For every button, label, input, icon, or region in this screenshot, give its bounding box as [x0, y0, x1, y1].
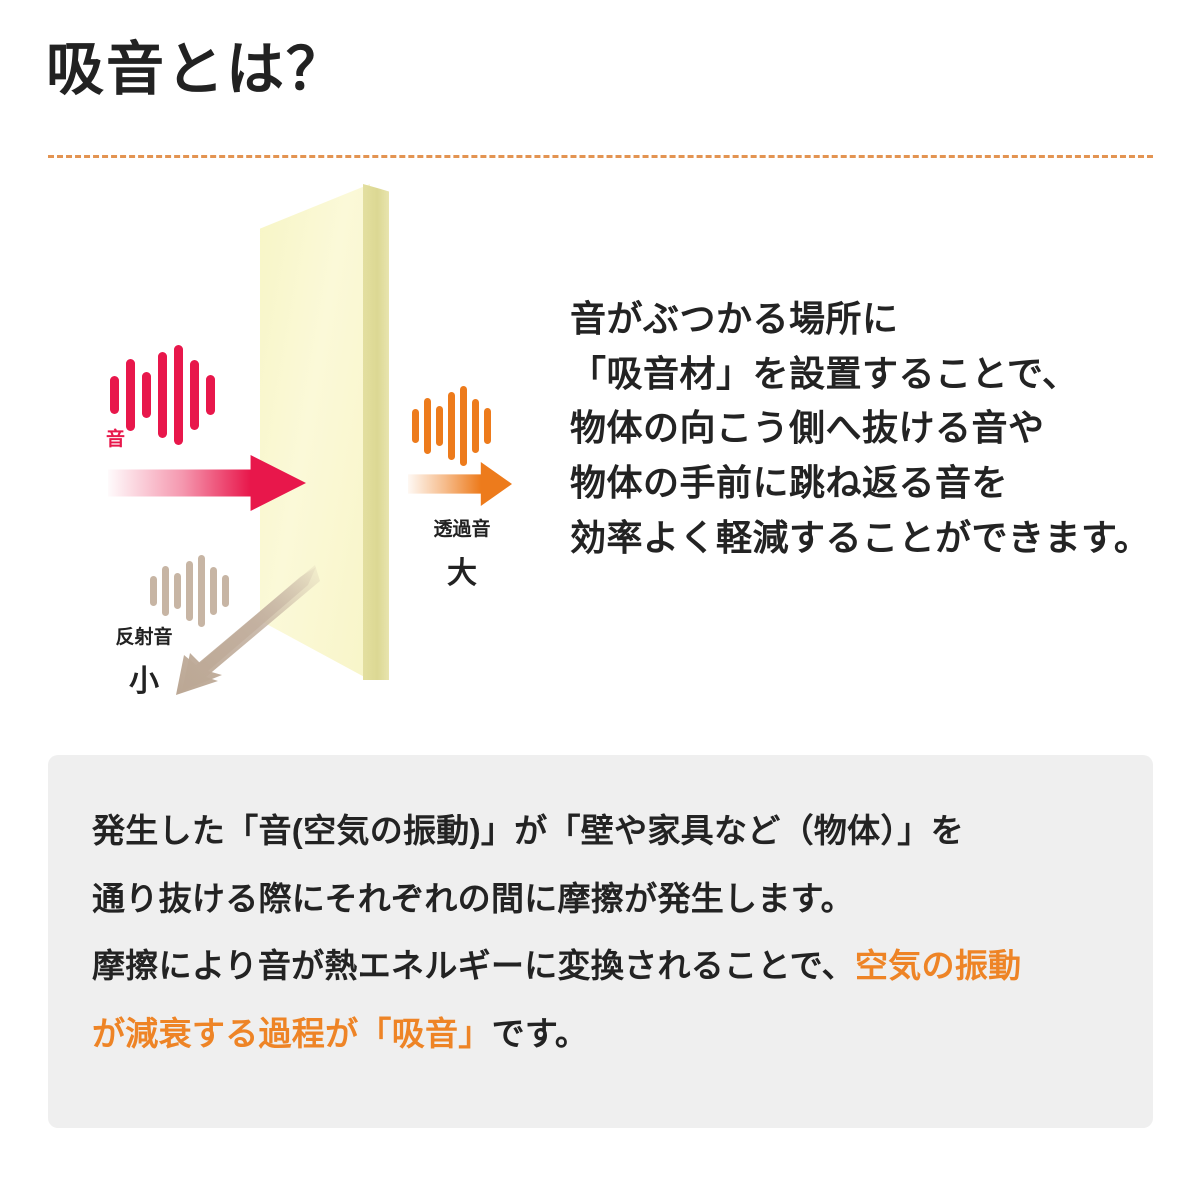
- incident-sound-waveform-icon: [110, 345, 215, 445]
- title-divider: [48, 155, 1153, 158]
- transmitted-sound-waveform-icon: [412, 395, 491, 457]
- note-callout-box: 発生した「音(空気の振動)」が「壁や家具など（物体）」を 通り抜ける際にそれぞれ…: [48, 755, 1153, 1128]
- reflected-sound-label: 反射音: [102, 622, 186, 649]
- reflected-sound-magnitude: 小: [102, 656, 186, 700]
- note-text: 発生した「音(空気の振動)」が「壁や家具など（物体）」を 通り抜ける際にそれぞれ…: [92, 797, 1123, 1068]
- note-line-3-highlight: 空気の振動: [855, 947, 1022, 984]
- description-line-4: 物体の手前に跳ね返る音を: [570, 456, 1180, 511]
- note-line-3-plain: 摩擦により音が熱エネルギーに変換されることで、: [92, 947, 855, 984]
- transmitted-sound-magnitude: 大: [422, 548, 502, 592]
- page-title: 吸音とは？: [46, 38, 346, 102]
- description-line-2: 「吸音材」を設置することで、: [570, 347, 1180, 402]
- note-line-4-highlight: が減衰する過程が「吸音」: [92, 1015, 492, 1052]
- note-line-3: 摩擦により音が熱エネルギーに変換されることで、空気の振動: [92, 932, 1123, 1000]
- note-line-2: 通り抜ける際にそれぞれの間に摩擦が発生します。: [92, 865, 1123, 933]
- note-line-4: が減衰する過程が「吸音」です。: [92, 1000, 1123, 1068]
- note-line-4-plain: です。: [492, 1015, 589, 1052]
- incident-sound-label: 音: [106, 424, 125, 451]
- description-paragraph: 音がぶつかる場所に 「吸音材」を設置することで、 物体の向こう側へ抜ける音や 物…: [570, 292, 1180, 566]
- description-line-3: 物体の向こう側へ抜ける音や: [570, 401, 1180, 456]
- description-line-1: 音がぶつかる場所に: [570, 292, 1180, 347]
- description-line-5: 効率よく軽減することができます。: [570, 511, 1180, 566]
- note-line-1: 発生した「音(空気の振動)」が「壁や家具など（物体）」を: [92, 797, 1123, 865]
- transmitted-sound-label: 透過音: [422, 514, 502, 541]
- absorber-panel-edge: [363, 184, 389, 680]
